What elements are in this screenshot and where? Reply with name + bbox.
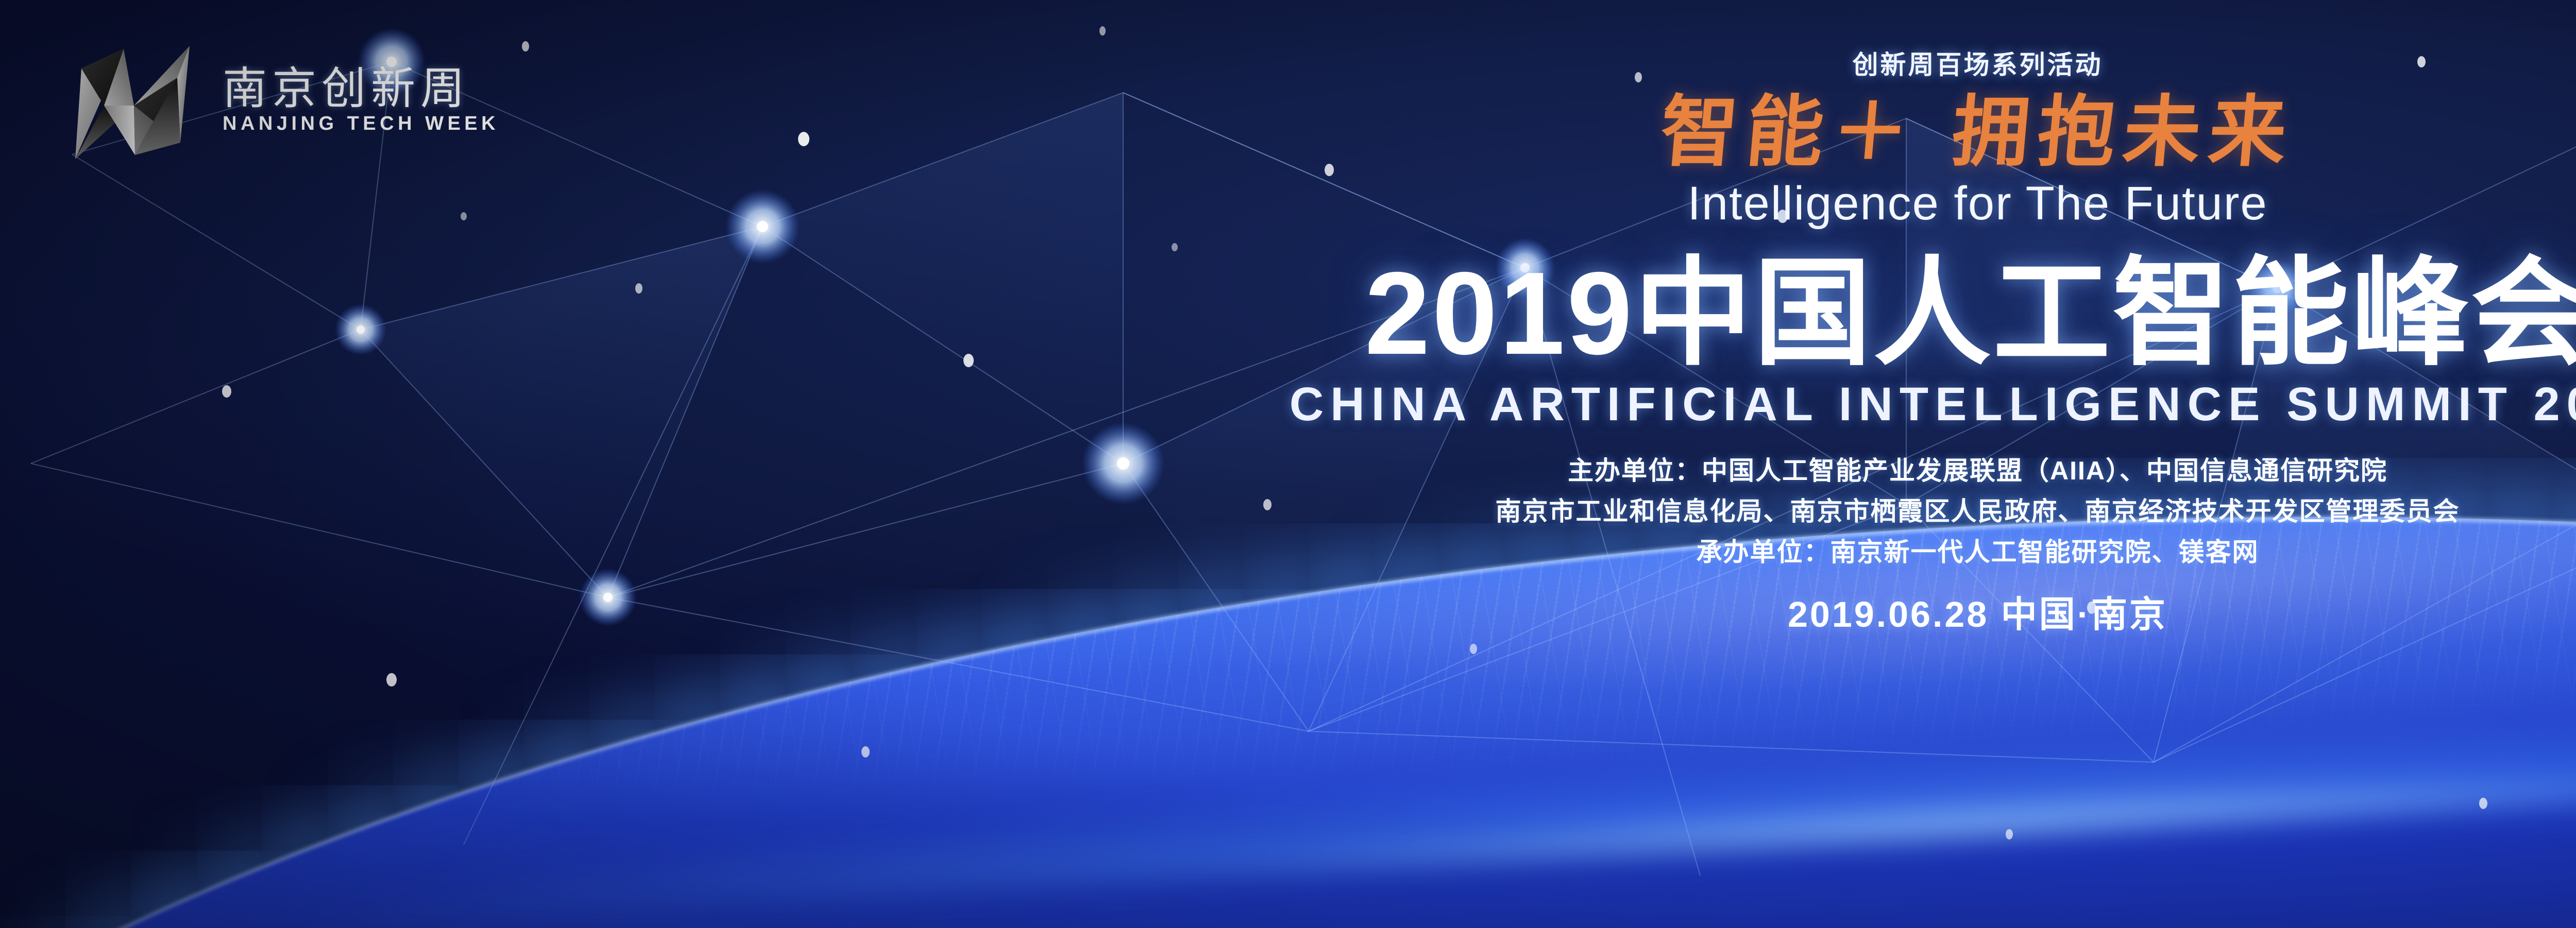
vignette-overlay	[0, 0, 2576, 928]
conference-key-visual-banner: 南京创新周 NANJING TECH WEEK 创新周百场系列活动 智能＋ 拥抱…	[0, 0, 2576, 928]
